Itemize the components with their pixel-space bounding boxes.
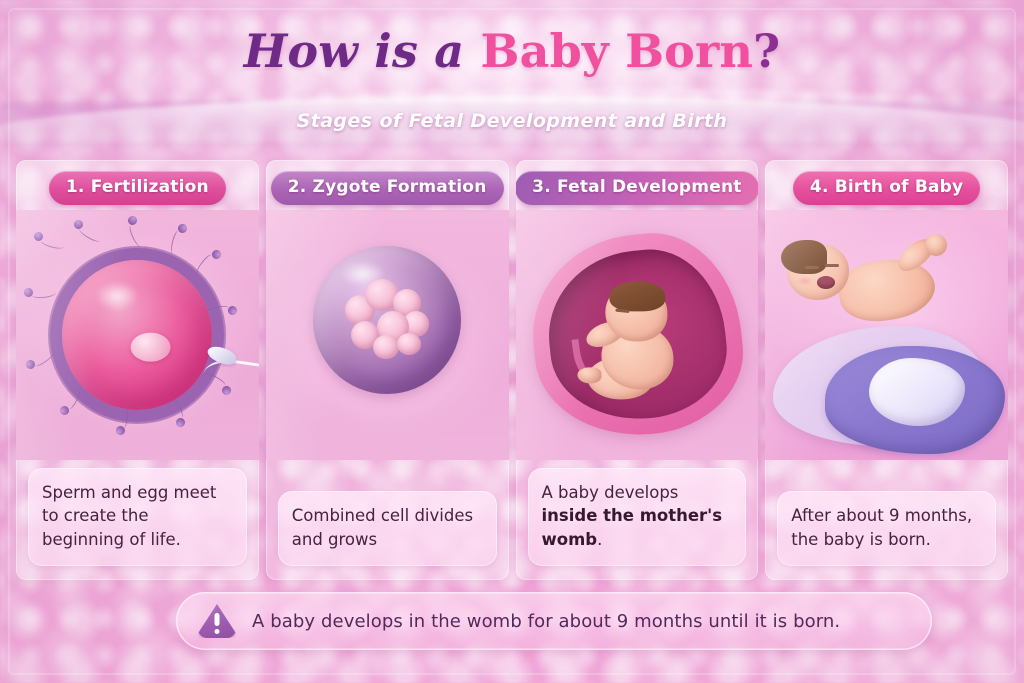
egg-cell: [62, 260, 212, 410]
stage-pill-wrap: 2. Zygote Formation: [266, 171, 509, 205]
stage-cards-row: 1. Fertilization Sperm and egg meet to c…: [16, 160, 1008, 580]
blastomere-cell: [373, 335, 399, 359]
warning-dot: [215, 629, 220, 634]
exclamation-warning-icon: [198, 604, 236, 638]
caption-emphasis: inside the mother's womb: [542, 506, 723, 548]
stage-card-birth[interactable]: 4. Birth of Baby After about 9 months, t…: [765, 160, 1008, 580]
stage-pill-birth[interactable]: 4. Birth of Baby: [793, 171, 980, 205]
stage-pill-zygote[interactable]: 2. Zygote Formation: [271, 171, 504, 205]
footer-note-banner: A baby develops in the womb for about 9 …: [176, 592, 932, 650]
blastomere-cluster: [341, 277, 433, 363]
sperm-icon: [127, 215, 139, 227]
newborn-baby-in-hands-illustration: [765, 210, 1008, 460]
fetal-development-artwork: [516, 210, 759, 460]
stage-pill-wrap: 3. Fetal Development: [516, 171, 759, 205]
stage-caption-fertilization: Sperm and egg meet to create the beginni…: [28, 468, 247, 566]
sperm-icon: [24, 288, 34, 298]
zygote-membrane: [313, 246, 461, 394]
stage-card-fertilization[interactable]: 1. Fertilization Sperm and egg meet to c…: [16, 160, 259, 580]
sperm-icon: [177, 223, 188, 234]
stage-pill-wrap: 1. Fertilization: [16, 171, 259, 205]
title-part-one: How is a: [244, 24, 481, 78]
sperm-icon: [72, 218, 84, 230]
title-part-two: Baby Born: [480, 24, 753, 78]
sperm-icon: [24, 358, 36, 370]
stage-caption-fetal-development: A baby develops inside the mother's womb…: [528, 468, 747, 566]
zygote-cell-cluster-illustration: [266, 210, 509, 460]
footer-note-text: A baby develops in the womb for about 9 …: [252, 611, 840, 632]
newborn-fist: [925, 234, 947, 256]
stage-caption-zygote: Combined cell divides and grows: [278, 491, 497, 566]
title-question-mark: ?: [753, 24, 780, 78]
stage-card-fetal-development[interactable]: 3. Fetal Development A baby develops ins…: [516, 160, 759, 580]
blastomere-cell: [397, 333, 421, 355]
stage-pill-fertilization[interactable]: 1. Fertilization: [49, 171, 226, 205]
sperm-icon: [33, 231, 44, 242]
stage-pill-wrap: 4. Birth of Baby: [765, 171, 1008, 205]
egg-and-sperm-illustration: [16, 210, 259, 460]
fertilization-artwork: [16, 210, 259, 460]
egg-nucleus: [131, 333, 171, 362]
warning-bar: [215, 613, 220, 626]
caption-lead: A baby develops: [542, 483, 679, 502]
fetus-in-womb-illustration: [516, 210, 759, 460]
caption-tail: .: [597, 530, 602, 549]
sperm-icon: [58, 404, 70, 416]
infographic-poster: How is a Baby Born? Stages of Fetal Deve…: [0, 0, 1024, 683]
zygote-artwork: [266, 210, 509, 460]
sperm-icon: [227, 305, 237, 315]
newborn-torso: [836, 254, 939, 327]
caption-lead: Sperm and egg meet to create the beginni…: [42, 483, 216, 549]
sperm-icon: [210, 248, 223, 261]
stage-caption-birth: After about 9 months, the baby is born.: [777, 491, 996, 566]
caption-lead: After about 9 months, the baby is born.: [791, 506, 972, 548]
fetus-figure: [579, 283, 699, 401]
birth-artwork: [765, 210, 1008, 460]
stage-pill-fetal-development[interactable]: 3. Fetal Development: [516, 171, 759, 205]
newborn-hair: [781, 240, 827, 274]
caption-lead: Combined cell divides and grows: [292, 506, 473, 548]
sperm-icon: [116, 426, 126, 436]
newborn-eye: [805, 266, 819, 269]
sperm-icon: [174, 416, 186, 428]
page-subtitle: Stages of Fetal Development and Birth: [0, 110, 1024, 132]
fetus-hair: [609, 281, 665, 311]
stage-card-zygote[interactable]: 2. Zygote Formation Combined cell divide…: [266, 160, 509, 580]
page-title: How is a Baby Born?: [0, 26, 1024, 78]
header: How is a Baby Born? Stages of Fetal Deve…: [0, 0, 1024, 152]
fetus-foot: [577, 367, 601, 383]
newborn-eye: [825, 264, 839, 267]
